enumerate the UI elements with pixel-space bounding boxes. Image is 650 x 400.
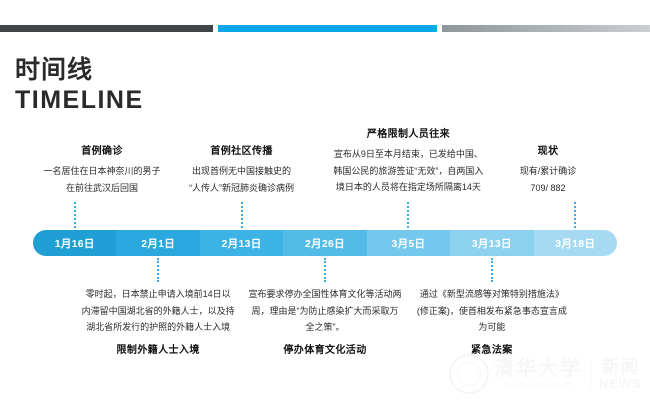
timeline-date-label: 3月5日 xyxy=(391,236,425,251)
timeline-date-label: 1月16日 xyxy=(55,236,95,251)
timeline-event-line: 现有/累计确诊 xyxy=(448,163,648,180)
timeline-date-label: 3月13日 xyxy=(472,236,512,251)
timeline-date-cell[interactable]: 3月13日 xyxy=(450,230,533,256)
timeline-event-title: 现状 xyxy=(448,142,648,157)
timeline-date-cell[interactable]: 1月16日 xyxy=(33,230,116,256)
timeline-date-bar: 1月16日2月1日2月13日2月26日3月5日3月13日3月18日 xyxy=(33,230,617,256)
timeline-date-label: 3月18日 xyxy=(555,236,595,251)
timeline-event-line: 709/ 882 xyxy=(448,180,648,197)
timeline-event-line: 为可能 xyxy=(392,319,592,336)
news-wordmark: 新闻 NEWS xyxy=(599,358,642,391)
university-wordmark: 清华大学 Tsinghua University xyxy=(494,358,582,390)
timeline-connector-up xyxy=(241,202,243,228)
timeline-date-label: 2月1日 xyxy=(141,236,175,251)
top-accent-bar xyxy=(0,25,650,32)
timeline-date-cell[interactable]: 3月5日 xyxy=(367,230,450,256)
timeline-event[interactable]: 通过《新型流感等对策特别措施法》(修正案)，使首相发布紧急事态宣言成为可能紧急法… xyxy=(392,286,592,356)
accent-segment-dark xyxy=(0,25,213,32)
timeline-connector-down xyxy=(491,258,493,282)
timeline-event-line: (修正案)，使首相发布紧急事态宣言成 xyxy=(392,303,592,320)
timeline-date-cell[interactable]: 3月18日 xyxy=(534,230,617,256)
timeline-date-cell[interactable]: 2月26日 xyxy=(283,230,366,256)
timeline-connector-up xyxy=(74,202,76,228)
timeline-date-label: 2月26日 xyxy=(305,236,345,251)
accent-segment-gray xyxy=(442,25,650,32)
university-name-cn: 清华大学 xyxy=(494,358,582,380)
news-label-en: NEWS xyxy=(599,377,642,391)
timeline-connector-up xyxy=(574,202,576,228)
timeline-event[interactable]: 现状现有/累计确诊709/ 882 xyxy=(448,142,648,196)
watermark-logo: 清华大学 Tsinghua University 新闻 NEWS xyxy=(449,354,642,394)
timeline-event-line: 通过《新型流感等对策特别措施法》 xyxy=(392,286,592,303)
page-title-cn: 时间线 xyxy=(15,56,144,86)
university-name-en: Tsinghua University xyxy=(503,382,573,390)
timeline-event-description: 现有/累计确诊709/ 882 xyxy=(448,163,648,196)
page-title-en: TIMELINE xyxy=(15,86,144,116)
timeline-connector-up xyxy=(407,202,409,228)
tsinghua-seal-icon xyxy=(449,354,489,394)
timeline-event-description: 通过《新型流感等对策特别措施法》(修正案)，使首相发布紧急事态宣言成为可能 xyxy=(392,286,592,336)
timeline-connector-down xyxy=(157,258,159,282)
timeline-date-cell[interactable]: 2月13日 xyxy=(200,230,283,256)
accent-segment-blue xyxy=(218,25,437,32)
news-label-cn: 新闻 xyxy=(602,358,640,377)
page-title: 时间线 TIMELINE xyxy=(15,56,144,115)
timeline-date-cell[interactable]: 2月1日 xyxy=(116,230,199,256)
timeline-date-label: 2月13日 xyxy=(222,236,262,251)
watermark-divider xyxy=(590,359,591,389)
timeline-event-title: 严格限制人员往来 xyxy=(308,125,508,140)
timeline-connector-down xyxy=(324,258,326,282)
